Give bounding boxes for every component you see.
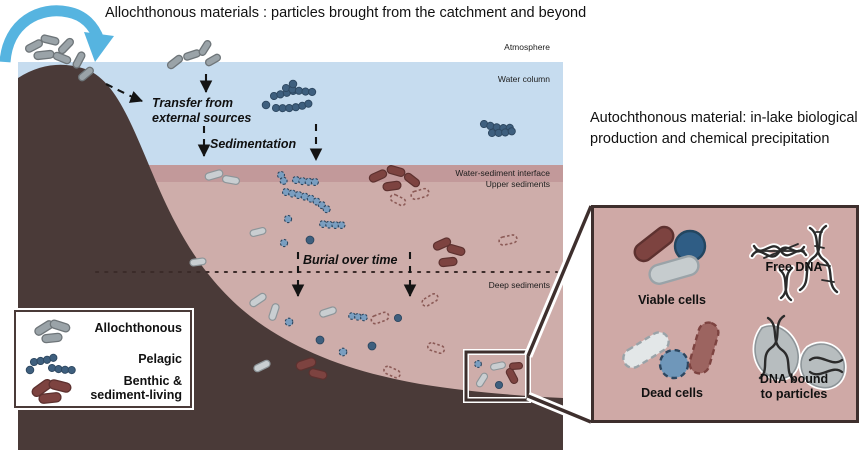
legend-label-pelagic: Pelagic [138,352,182,366]
transfer-line-2: external sources [152,111,251,126]
legend-benthic-line-2: sediment-living [90,388,182,402]
legend-label-allochthonous: Allochthonous [95,321,183,335]
autochthonous-caption: Autochthonous material: in-lake biologic… [590,108,860,149]
inset-label-dna-bound: DNA bound to particles [734,372,854,402]
legend: Allochthonous Pelagic Benthic & sediment… [14,310,192,408]
dna-bound-line-1: DNA bound [734,372,854,387]
layer-label-atmosphere: Atmosphere [400,42,550,52]
magnified-inset-panel: Viable cells Free DNA Dead cells DNA bou… [591,205,859,423]
page-title: Allochthonous materials : particles brou… [105,4,705,22]
legend-label-benthic: Benthic & sediment-living [90,374,182,403]
transfer-line-1: Transfer from [152,96,251,111]
legend-benthic-line-1: Benthic & [90,374,182,388]
dead-cells-icon [620,320,721,378]
inset-label-free-dna: Free DNA [734,260,854,275]
inset-label-dead-cells: Dead cells [612,386,732,401]
legend-marker-pelagic [26,353,75,375]
layer-label-upper-sediments: Upper sediments [380,179,550,189]
layer-label-water-sediment-interface: Water-sediment interface [380,168,550,178]
process-label-transfer: Transfer from external sources [152,96,251,126]
process-label-sedimentation: Sedimentation [210,137,296,152]
legend-marker-benthic [30,378,71,404]
layer-label-water-column: Water column [400,74,550,84]
dna-bound-line-2: to particles [734,387,854,402]
diagram-stage: Allochthonous materials : particles brou… [0,0,864,450]
process-label-burial: Burial over time [303,253,397,268]
legend-marker-allochthonous [33,319,70,343]
layer-label-deep-sediments: Deep sediments [400,280,550,290]
inset-label-viable-cells: Viable cells [612,293,732,308]
viable-cells-icon [631,223,705,286]
